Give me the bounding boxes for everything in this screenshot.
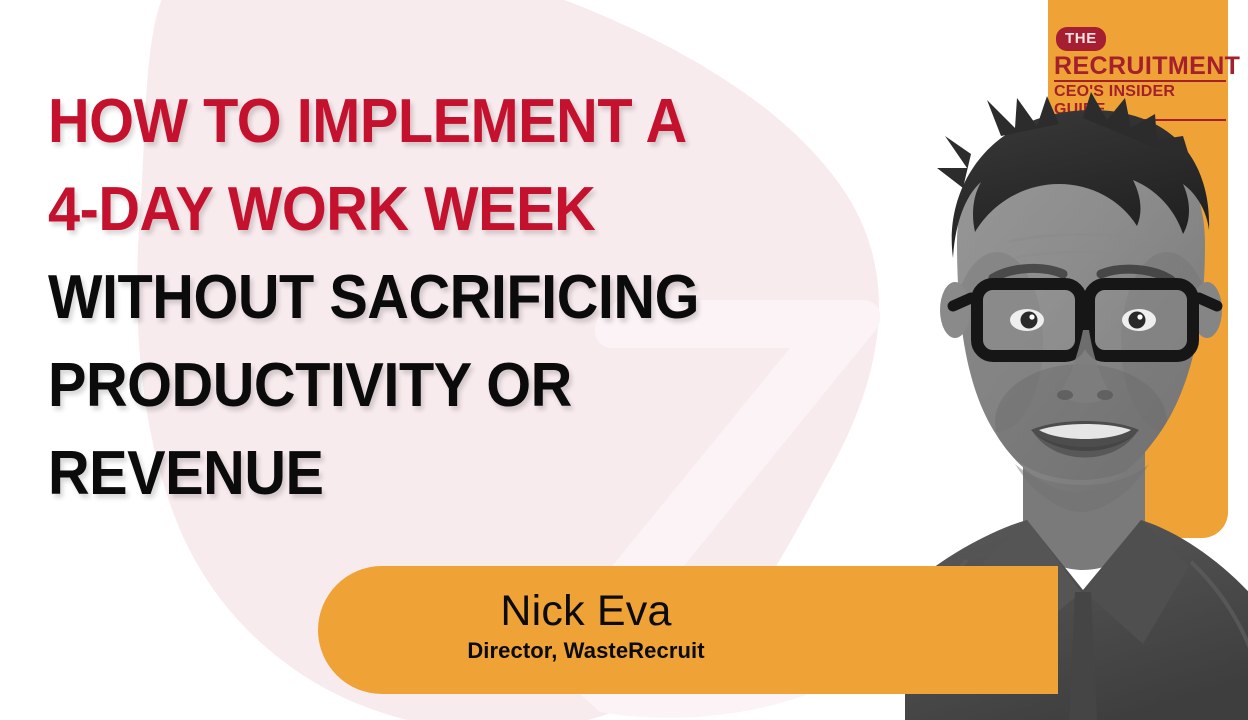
headline-line-1: HOW TO IMPLEMENT A [48, 78, 876, 166]
speaker-name-group: Nick Eva Director, WasteRecruit [376, 586, 796, 665]
logo-the-badge: THE [1056, 27, 1106, 51]
headline-line-2: 4-DAY WORK WEEK [48, 166, 876, 254]
headline-line-4: PRODUCTIVITY OR [48, 342, 876, 430]
headline-line-5: REVENUE [48, 430, 876, 518]
headline-block: HOW TO IMPLEMENT A 4-DAY WORK WEEK WITHO… [48, 78, 938, 518]
slide-canvas: THE RECRUITMENT CEO'S INSIDER GUIDE HOW … [0, 0, 1248, 720]
speaker-role-text: Director, WasteRecruit [376, 637, 796, 665]
logo-recruitment-text: RECRUITMENT [1054, 53, 1226, 82]
speaker-name-banner: Nick Eva Director, WasteRecruit [318, 566, 1058, 694]
headline-line-3: WITHOUT SACRIFICING [48, 254, 876, 342]
speaker-name-text: Nick Eva [376, 586, 796, 636]
